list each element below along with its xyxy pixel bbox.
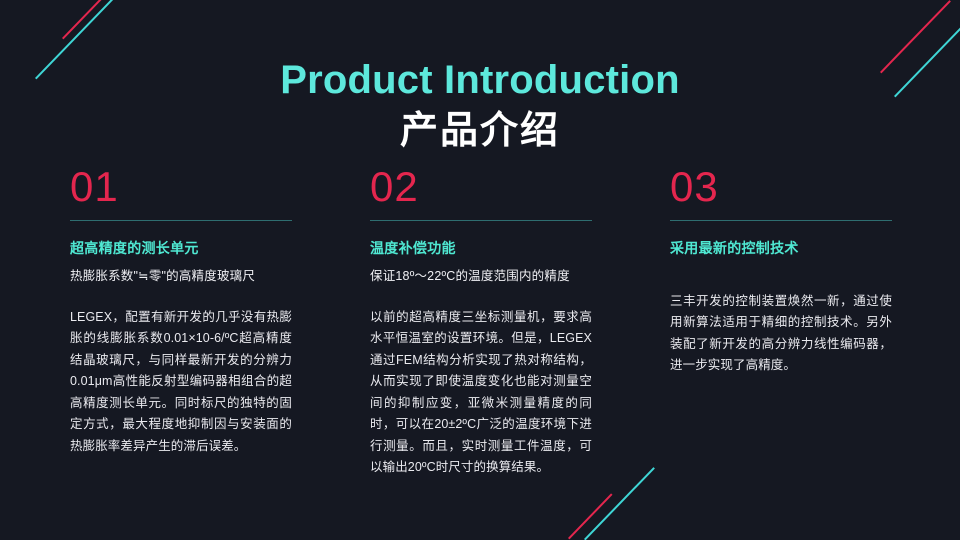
column-spacer-01 [70, 285, 292, 307]
column-divider-02 [370, 220, 592, 221]
column-spacer-03 [670, 267, 892, 291]
feature-column-03: 03 采用最新的控制技术 三丰开发的控制装置焕然一新，通过使用新算法适用于精细的… [670, 166, 892, 479]
column-heading-01: 超高精度的测长单元 [70, 239, 292, 259]
column-number-02: 02 [370, 166, 592, 208]
feature-column-02: 02 温度补偿功能 保证18º～22ºC的温度范围内的精度 以前的超高精度三坐标… [370, 166, 592, 479]
slide-canvas: Product Introduction 产品介绍 01 超高精度的测长单元 热… [0, 0, 960, 540]
column-body-01: LEGEX，配置有新开发的几乎没有热膨胀的线膨胀系数0.01×10-6/ºC超高… [70, 307, 292, 458]
column-number-01: 01 [70, 166, 292, 208]
column-subtitle-02: 保证18º～22ºC的温度范围内的精度 [370, 267, 592, 285]
column-body-02: 以前的超高精度三坐标测量机，要求高水平恒温室的设置环境。但是，LEGEX通过FE… [370, 307, 592, 479]
column-number-03: 03 [670, 166, 892, 208]
column-heading-02: 温度补偿功能 [370, 239, 592, 259]
column-subtitle-01: 热膨胀系数"≒零"的高精度玻璃尺 [70, 267, 292, 285]
bottom-center-red-diagonal-icon [568, 493, 613, 539]
slide-title-block: Product Introduction 产品介绍 [0, 58, 960, 154]
page-title-chinese: 产品介绍 [0, 106, 960, 154]
column-body-03: 三丰开发的控制装置焕然一新，通过使用新算法适用于精细的控制技术。另外装配了新开发… [670, 291, 892, 377]
page-title-english: Product Introduction [0, 58, 960, 102]
column-heading-03: 采用最新的控制技术 [670, 239, 892, 259]
column-divider-03 [670, 220, 892, 221]
top-left-red-diagonal-icon [62, 0, 127, 39]
column-spacer-02 [370, 285, 592, 307]
feature-column-01: 01 超高精度的测长单元 热膨胀系数"≒零"的高精度玻璃尺 LEGEX，配置有新… [70, 166, 292, 479]
column-divider-01 [70, 220, 292, 221]
feature-columns: 01 超高精度的测长单元 热膨胀系数"≒零"的高精度玻璃尺 LEGEX，配置有新… [70, 166, 892, 479]
